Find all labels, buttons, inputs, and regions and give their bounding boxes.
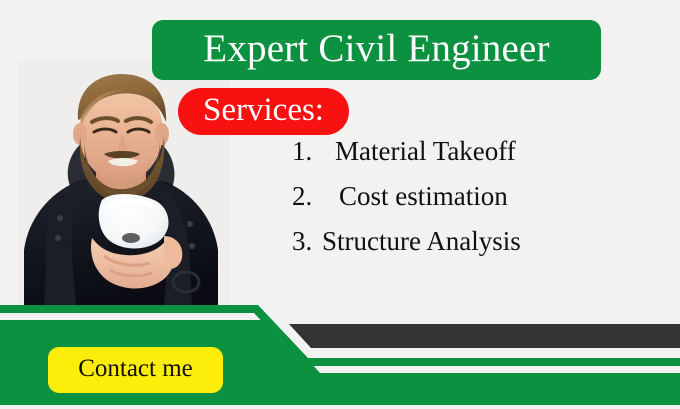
services-badge: Services: [178,88,349,135]
list-item-number: 3. [292,228,322,255]
thumbnail-canvas: Expert Civil Engineer Services: 1. Mater… [0,0,680,409]
contact-me-button[interactable]: Contact me [48,347,223,393]
list-item-number: 2. [292,183,322,210]
contact-me-label: Contact me [78,356,193,384]
page-title: Expert Civil Engineer [203,29,549,71]
list-item: 3. Structure Analysis [292,228,622,273]
services-list: 1. Material Takeoff 2. Cost estimation 3… [292,138,622,273]
list-item-label: Structure Analysis [322,228,521,255]
main-title-banner: Expert Civil Engineer [152,20,601,80]
list-item-label: Material Takeoff [322,138,516,165]
list-item-number: 1. [292,138,322,165]
list-item: 2. Cost estimation [292,183,622,228]
list-item-label: Cost estimation [322,183,508,210]
list-item: 1. Material Takeoff [292,138,622,183]
footer-dark-accent-bar [289,324,680,348]
services-badge-label: Services: [203,94,324,130]
